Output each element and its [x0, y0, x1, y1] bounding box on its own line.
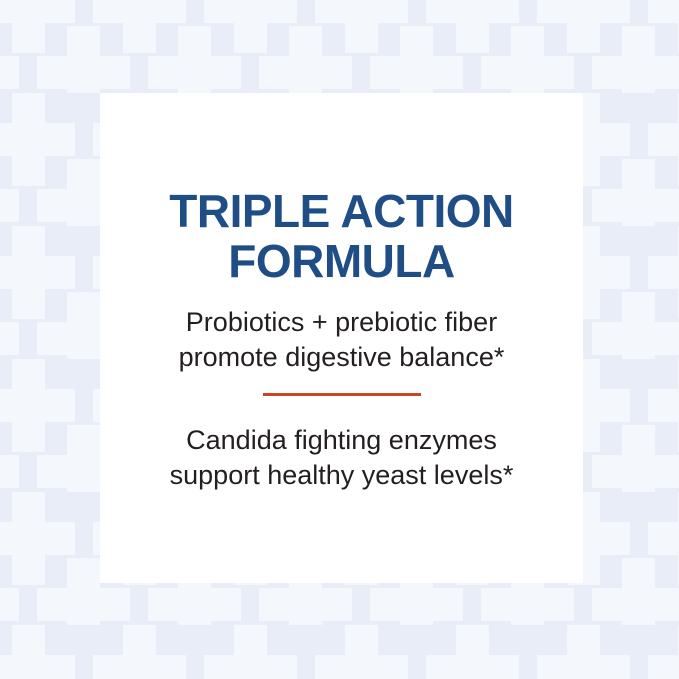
probiotic-benefit-text: Probiotics + prebiotic fiber promote dig…: [100, 305, 583, 375]
divider-container: [100, 393, 583, 396]
probiotic-benefit-line-2: promote digestive balance*: [100, 340, 583, 375]
section-divider: [263, 393, 421, 396]
candida-benefit-line-2: support healthy yeast levels*: [100, 458, 583, 493]
page-title: TRIPLE ACTION FORMULA: [100, 186, 583, 286]
candida-benefit-line-1: Candida fighting enzymes: [100, 423, 583, 458]
promo-graphic: TRIPLE ACTION FORMULA Probiotics + prebi…: [0, 0, 679, 679]
page-title-line-1: TRIPLE ACTION: [100, 186, 583, 236]
candida-benefit-text: Candida fighting enzymes support healthy…: [100, 423, 583, 493]
page-title-line-2: FORMULA: [100, 236, 583, 286]
probiotic-benefit-line-1: Probiotics + prebiotic fiber: [100, 305, 583, 340]
content-card: TRIPLE ACTION FORMULA Probiotics + prebi…: [100, 93, 583, 583]
